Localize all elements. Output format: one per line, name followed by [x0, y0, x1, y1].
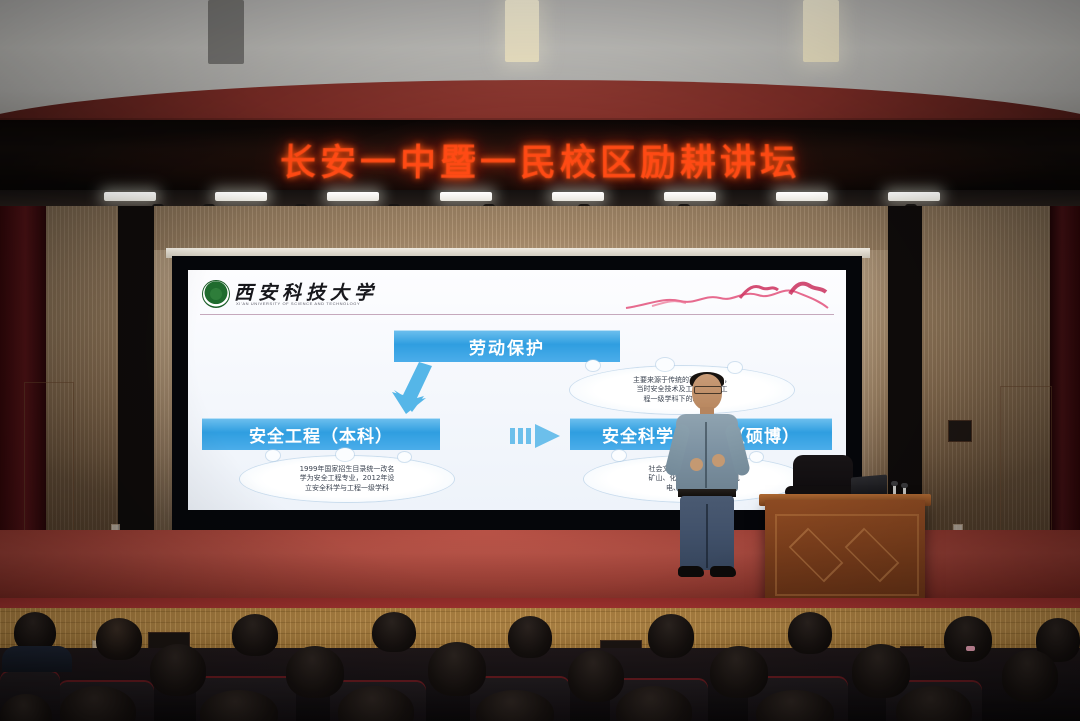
university-name-en: XI'AN UNIVERSITY OF SCIENCE AND TECHNOLO…: [236, 301, 360, 306]
cloud-bump: [398, 452, 411, 462]
mountain-ink-decoration: [622, 278, 832, 312]
audience-shoulders: [2, 646, 72, 672]
glasses-icon: [694, 386, 722, 394]
ceiling-lamp: [215, 192, 267, 201]
audience-head: [568, 650, 624, 702]
ceiling-lamp: [776, 192, 828, 201]
hair-clip: [966, 646, 975, 651]
audience-head: [648, 614, 694, 658]
audience-head: [944, 616, 992, 662]
led-banner: 长安一中暨一民校区励耕讲坛: [0, 120, 1080, 192]
auditorium-lecture-photo: 长安一中暨一民校区励耕讲坛 西安科技大学 XI'AN UNIVERSITY: [0, 0, 1080, 721]
wall-access-panel: [948, 420, 972, 442]
stage-curtain-right: [1050, 206, 1080, 536]
door-outline-right[interactable]: [1000, 386, 1052, 531]
ceiling-lamp: [327, 192, 379, 201]
audience-head: [150, 644, 206, 696]
right-block-arrow-icon: [510, 422, 564, 450]
presenter-right-shoe: [710, 566, 736, 577]
presenter-right-hand: [712, 454, 725, 467]
presenter-left-shoe: [678, 566, 704, 577]
audience-head: [428, 642, 486, 696]
ceiling-lamp: [664, 192, 716, 201]
audience-head: [852, 644, 910, 698]
audience-head: [96, 618, 142, 660]
audience-head: [232, 614, 278, 656]
presenter: [668, 374, 746, 586]
ceiling-lamp: [888, 192, 940, 201]
slide-header: 西安科技大学 XI'AN UNIVERSITY OF SCIENCE AND T…: [188, 270, 846, 316]
cloud-line: 立安全科学与工程一级学科: [300, 484, 395, 493]
wooden-lectern[interactable]: [765, 500, 925, 612]
slide-box-left: 安全工程（本科）: [202, 418, 440, 450]
slide-box-top: 劳动保护: [394, 330, 620, 362]
ceiling-lamp: [552, 192, 604, 201]
presenter-left-hand: [690, 458, 703, 471]
ceiling-panel-dark: [208, 0, 244, 64]
ceiling-lamp: [440, 192, 492, 201]
cloud-bump: [336, 448, 354, 461]
slide-cloud-bottom-left: 1999年国家招生目录统一改名 学为安全工程专业，2012年设 立安全科学与工程…: [240, 456, 454, 502]
cloud-bump: [656, 358, 674, 371]
audience-head: [372, 612, 416, 652]
wall-recess-left: [118, 206, 154, 536]
audience-head: [710, 646, 768, 698]
ceiling-light-panel: [505, 0, 539, 62]
cloud-bump: [750, 452, 763, 462]
ceiling-lamp: [104, 192, 156, 201]
audience-head: [508, 616, 552, 658]
door-outline-left[interactable]: [24, 382, 74, 531]
trouser-seam: [706, 504, 708, 568]
banner-title: 长安一中暨一民校区励耕讲坛: [0, 134, 1080, 186]
slide-header-rule: [200, 314, 834, 315]
presentation-slide: 西安科技大学 XI'AN UNIVERSITY OF SCIENCE AND T…: [188, 270, 846, 510]
audience-head: [1002, 650, 1058, 702]
cloud-bump: [586, 360, 600, 371]
cloud-line: 1999年国家招生目录统一改名: [300, 465, 395, 474]
cloud-line: 学为安全工程专业，2012年设: [300, 474, 395, 483]
audience-head: [788, 612, 832, 654]
cloud-bump: [728, 362, 742, 373]
university-seal-icon: [202, 280, 230, 308]
down-left-arrow-icon: [386, 362, 444, 420]
cloud-bump: [266, 450, 280, 461]
shirt-placket: [705, 422, 707, 488]
cloud-bump: [612, 450, 626, 461]
ceiling-light-panel: [803, 0, 839, 62]
projection-screen: 西安科技大学 XI'AN UNIVERSITY OF SCIENCE AND T…: [172, 256, 862, 530]
audience-head: [286, 646, 344, 698]
